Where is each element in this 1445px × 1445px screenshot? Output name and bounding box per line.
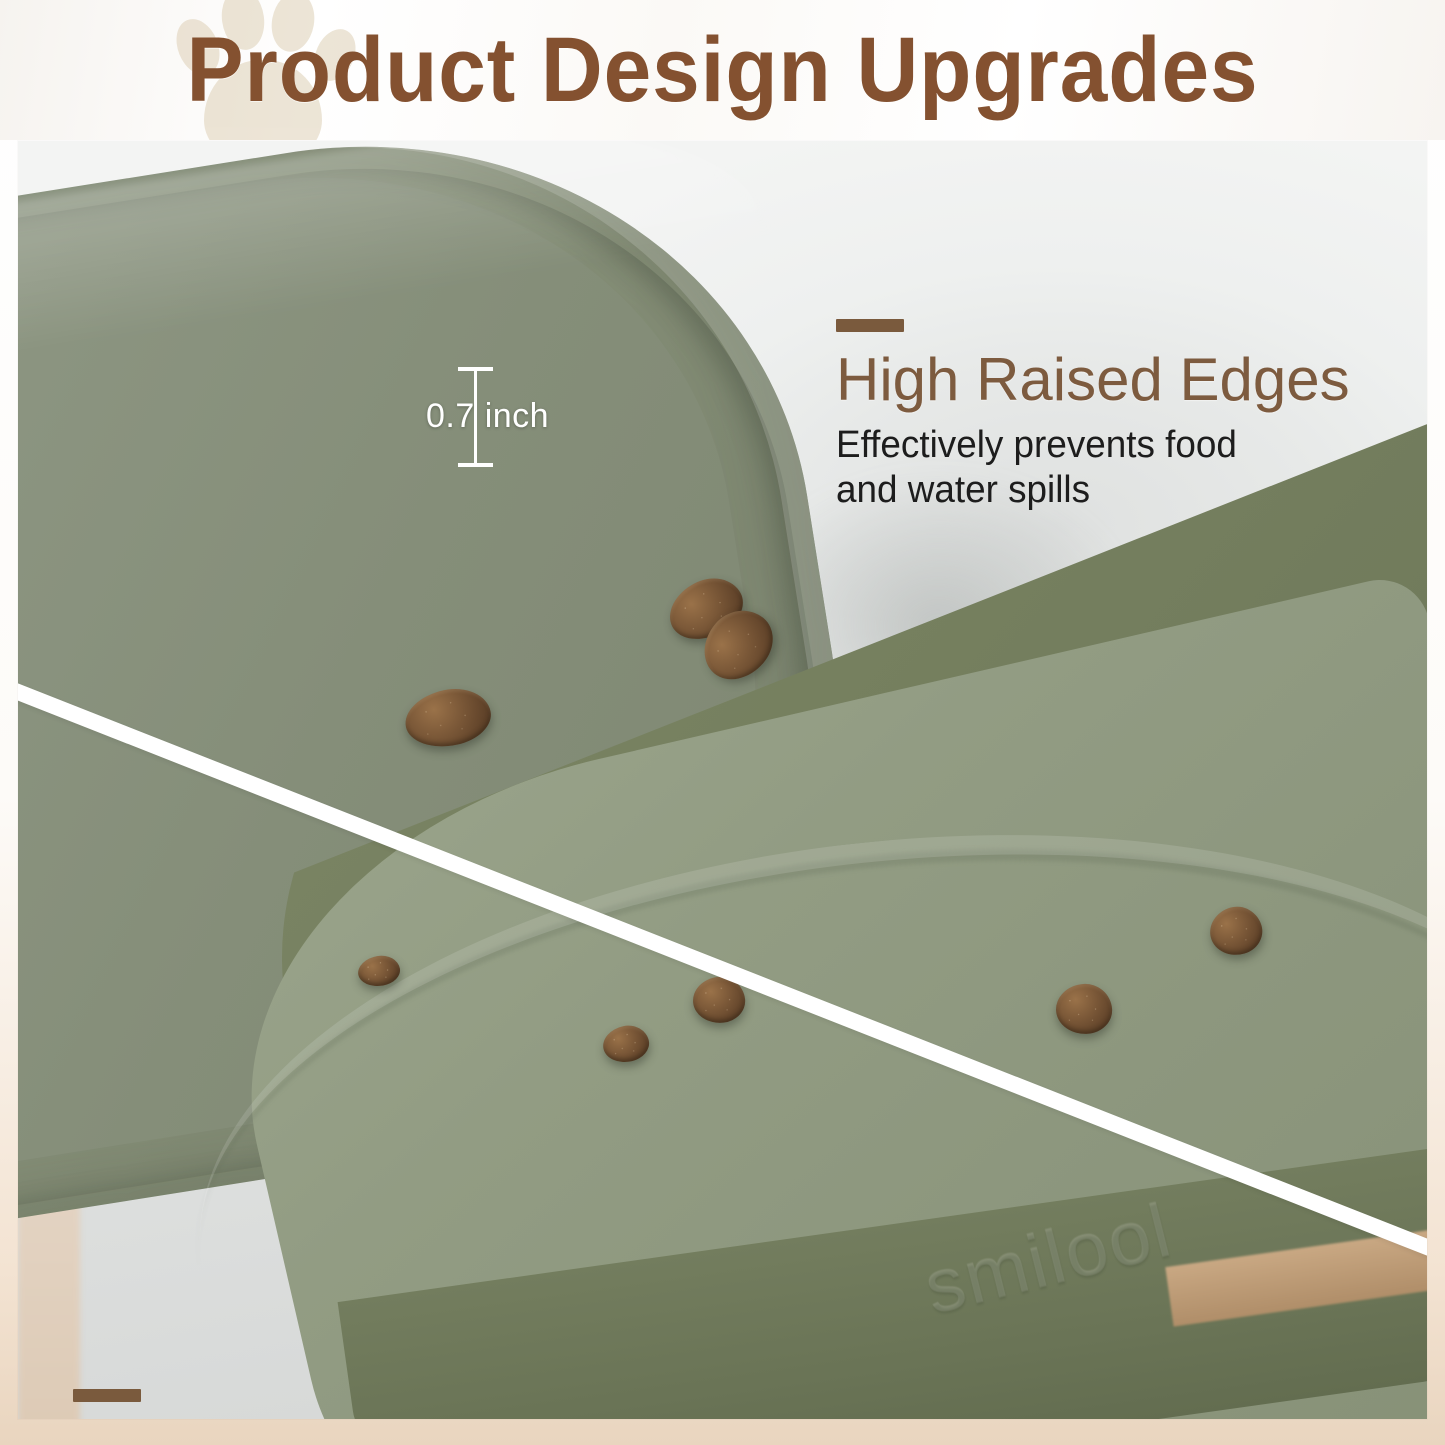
dimension-label: 0.7 inch	[426, 397, 549, 436]
product-infographic: Product Design Upgrades smilool	[0, 0, 1445, 1445]
feature-subtitle-line-1: Effectively prevents food	[836, 423, 1334, 468]
accent-bar	[73, 1389, 141, 1402]
product-photo: smilool 0.7 inch High Raised Edges Effec…	[18, 141, 1427, 1419]
dimension-cap-bottom	[458, 463, 493, 467]
feature-block-keeping-floor-clean: Keeping the floor clean Minimizes time s…	[73, 1389, 940, 1419]
feature-subtitle-line-2: and water spills	[836, 468, 1334, 513]
dimension-callout: 0.7 inch	[416, 359, 591, 475]
feature-block-high-raised-edges: High Raised Edges Effectively prevents f…	[836, 319, 1350, 513]
header-banner: Product Design Upgrades	[0, 0, 1445, 140]
page-title: Product Design Upgrades	[51, 0, 1395, 140]
feature-heading: High Raised Edges	[836, 346, 1350, 413]
feature-heading: Keeping the floor clean	[73, 1416, 940, 1419]
accent-bar	[836, 319, 904, 332]
